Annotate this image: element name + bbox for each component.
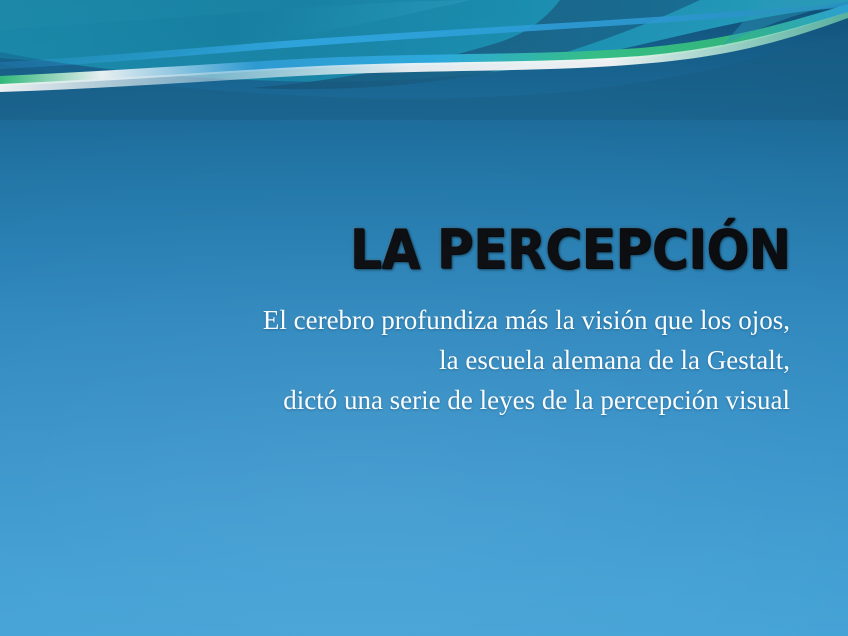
subtitle-line-1: El cerebro profundiza más la visión que … xyxy=(60,300,790,340)
slide-subtitle[interactable]: El cerebro profundiza más la visión que … xyxy=(60,300,790,420)
slide-title[interactable]: LA PERCEPCIÓN xyxy=(111,222,790,279)
subtitle-line-3: dictó una serie de leyes de la percepció… xyxy=(60,380,790,420)
subtitle-line-2: la escuela alemana de la Gestalt, xyxy=(60,340,790,380)
slide-text-area: LA PERCEPCIÓN El cerebro profundiza más … xyxy=(0,0,848,636)
presentation-slide: LA PERCEPCIÓN El cerebro profundiza más … xyxy=(0,0,848,636)
